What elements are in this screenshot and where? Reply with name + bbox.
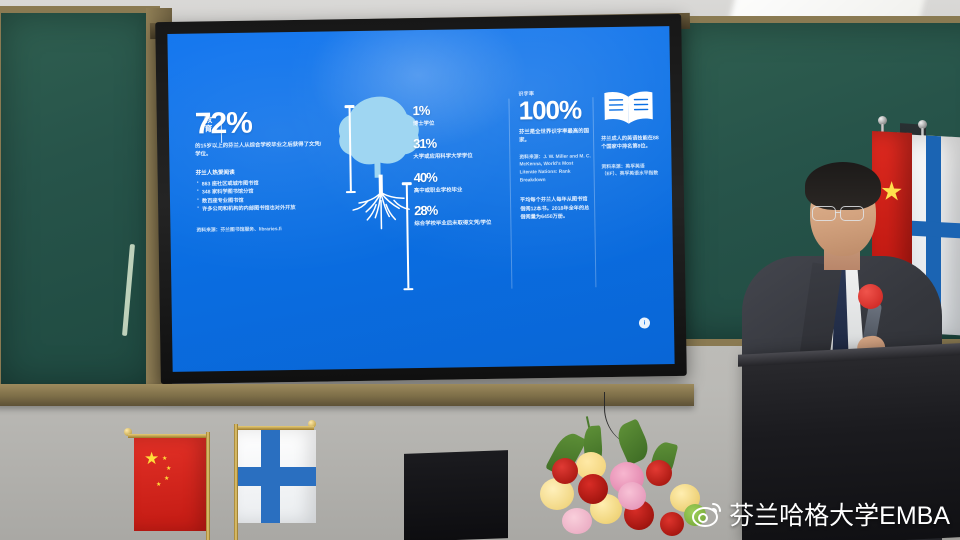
middle-column: 1% 博士学位 31% 大学或应用科学大学学位 40% 高中或职业学校毕业 28…: [413, 102, 519, 228]
weibo-icon: [692, 501, 722, 527]
stat-block: 1% 博士学位: [413, 102, 517, 128]
presentation-screen[interactable]: 教育 72% 的15岁以上的芬兰人从综合学校毕业之后获得了文凭/学位。 芬兰人热…: [167, 26, 674, 372]
stat-label: 大学或应用科学大学学位: [413, 152, 517, 162]
left-source-note: 资料来源：芬兰图书馆服务、libraries.fi: [196, 226, 324, 236]
reading-note: 平均每个芬兰人每年从图书馆借阅12本书。2018年全年的总借阅量为6450万册。: [520, 196, 592, 222]
china-star-small: ★: [166, 466, 171, 472]
glasses-right-lens: [840, 206, 864, 221]
left-column: 72% 的15岁以上的芬兰人从综合学校毕业之后获得了文凭/学位。 芬兰人热爱阅读…: [195, 108, 325, 236]
stat-label: 综合学校毕业后未取得文凭/学位: [414, 219, 518, 229]
rose-red: [578, 474, 608, 504]
stat-block: 40% 高中或职业学校毕业: [414, 169, 518, 195]
hair: [805, 162, 881, 210]
glasses-bridge: [835, 212, 841, 213]
stat-block: 31% 大学或应用科学大学学位: [413, 136, 517, 162]
finland-cross-horizontal: [238, 467, 316, 486]
rose-red: [660, 512, 684, 536]
library-list: 863 座社区或城市图书馆 348 家科学图书馆分馆 数百座专业图书馆 许多公司…: [196, 178, 325, 214]
flag-crossbar: [128, 434, 206, 438]
reading-heading: 芬兰人热爱阅读: [196, 167, 324, 178]
english-stat: 芬兰成人的英语技能在88个国家中排名第8位。: [601, 134, 661, 152]
chalk-tray: [0, 384, 694, 406]
list-item: 许多公司和机构的内部图书馆也对外开放: [196, 203, 324, 213]
watermark-text: 芬兰哈格大学EMBA: [729, 496, 950, 532]
china-star-small: ★: [164, 476, 169, 482]
finland-flag-desk: [238, 430, 316, 523]
stat-block: 28% 综合学校毕业后未取得文凭/学位: [414, 203, 518, 229]
measurement-bar-right: [402, 182, 414, 290]
flag-pole: [206, 432, 210, 540]
open-book-icon: [600, 88, 657, 127]
slide-badge: i: [639, 317, 650, 328]
china-star-small: ★: [162, 456, 167, 462]
english-source: 资料来源：英孚英语（EF）、英孚英语水平指数: [601, 163, 661, 179]
china-star-small: ★: [156, 482, 161, 488]
stat-label: 博士学位: [413, 118, 517, 128]
measurement-bar-left: [345, 105, 356, 193]
literacy-description: 芬兰是全世界识字率最高的国家。: [519, 127, 591, 145]
stat-value: 1%: [413, 102, 517, 117]
display-bezel: 教育 72% 的15岁以上的芬兰人从综合学校毕业之后获得了文凭/学位。 芬兰人热…: [155, 14, 687, 384]
classroom-scene: 教育 72% 的15岁以上的芬兰人从综合学校毕业之后获得了文凭/学位。 芬兰人热…: [0, 0, 960, 540]
rose-pink: [562, 508, 592, 534]
flag-crossbar: [234, 426, 314, 430]
china-flag-desk: ★ ★ ★ ★ ★: [134, 438, 206, 531]
leaf: [613, 418, 653, 465]
literacy-value: 100%: [518, 96, 590, 123]
stat-label: 高中或职业学校毕业: [414, 185, 518, 195]
weibo-watermark: 芬兰哈格大学EMBA: [692, 496, 950, 532]
lily-pink: [618, 482, 646, 510]
china-star-large: ★: [144, 450, 159, 467]
monitor-silhouette: [404, 450, 508, 540]
left-percent-description: 的15岁以上的芬兰人从综合学校毕业之后获得了文凭/学位。: [195, 141, 323, 160]
stat-value: 40%: [414, 169, 518, 184]
flag-pole: [234, 424, 238, 540]
rose-red: [552, 458, 578, 484]
stat-value: 28%: [414, 203, 518, 218]
microphone-head: [858, 284, 883, 309]
literacy-source: 资料来源：J. W. Miller and M. C. McKenna, Wor…: [519, 153, 591, 185]
slide-content: 教育 72% 的15岁以上的芬兰人从综合学校毕业之后获得了文凭/学位。 芬兰人热…: [167, 26, 674, 372]
rose-red: [646, 460, 672, 486]
glasses-left-lens: [812, 206, 836, 221]
stat-value: 31%: [413, 136, 517, 151]
chalkboard-left: [0, 6, 160, 392]
left-percent-value: 72%: [195, 108, 323, 140]
